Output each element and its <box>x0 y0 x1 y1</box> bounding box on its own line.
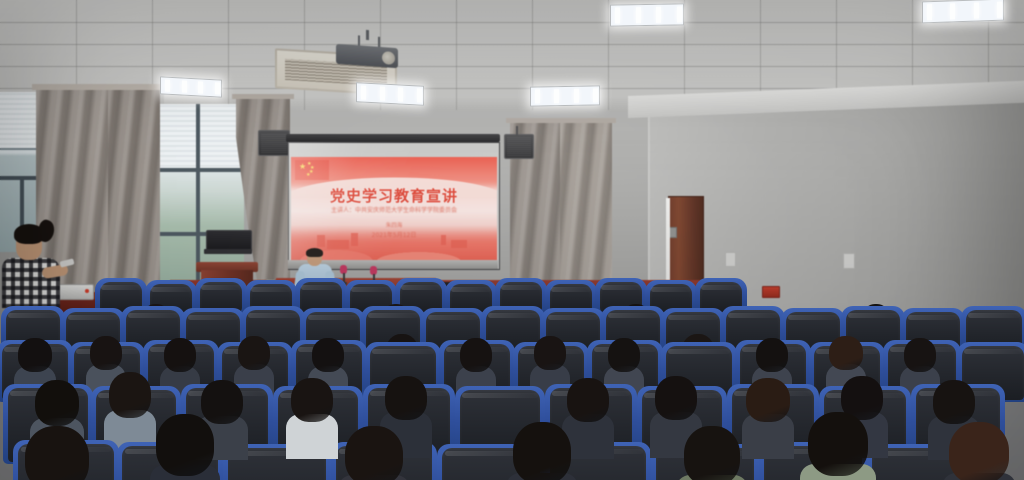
seat-top-edge <box>8 313 59 318</box>
audience-member-head <box>109 372 151 418</box>
speaker-mesh <box>507 137 531 156</box>
seat-top-edge <box>68 315 119 320</box>
light-tube <box>974 2 979 18</box>
slide-date: 2021年5月12日 <box>291 230 497 239</box>
speaker-mesh <box>261 133 287 153</box>
light-tube <box>165 80 170 92</box>
light-tube <box>417 88 422 102</box>
curtain-panel <box>108 88 160 308</box>
audience-member-head <box>156 414 214 476</box>
audience-member <box>800 412 876 480</box>
seat-top-edge <box>848 313 899 318</box>
projector-lens-icon <box>382 51 395 65</box>
audience-member <box>506 422 578 480</box>
slide-title: 党史学习教育宣讲 <box>291 185 497 206</box>
audience-member-head <box>655 376 697 420</box>
ceiling-light-panel-icon <box>922 0 1004 23</box>
seat-top-edge <box>968 313 1021 318</box>
seat-top-edge <box>251 287 290 292</box>
seat-top-edge <box>368 313 419 318</box>
ceiling-light-panel-icon <box>160 76 222 97</box>
seat-top-edge <box>548 315 599 320</box>
light-tube <box>398 87 403 101</box>
light-tube <box>615 7 620 23</box>
audience-member <box>676 426 748 480</box>
light-tube <box>215 82 220 94</box>
audience-member <box>942 422 1016 480</box>
light-tube <box>656 7 661 23</box>
wall-outlet-icon[interactable] <box>843 253 855 269</box>
seat-top-edge <box>351 287 390 292</box>
seat-top-edge <box>301 285 340 290</box>
ceiling-light-panel-icon <box>530 85 600 106</box>
seat-top-edge <box>201 285 240 290</box>
audience-member-head <box>312 338 344 372</box>
seat-top-edge <box>451 287 490 292</box>
seat-top-edge <box>151 287 190 292</box>
light-tube <box>677 6 682 22</box>
seat-top-edge <box>788 315 839 320</box>
presenter-hair <box>306 248 323 257</box>
audience-member <box>338 426 410 480</box>
seat-top-edge <box>501 285 540 290</box>
screen-roller-case <box>286 134 500 142</box>
audience-member-head <box>90 336 122 370</box>
light-tube <box>361 85 366 99</box>
audience-member-head <box>534 336 566 370</box>
audience-member-head <box>829 336 863 370</box>
light-tube <box>593 88 598 102</box>
audience-member-head <box>164 338 196 372</box>
wall-speaker-right-icon <box>504 134 534 159</box>
audience-member-head <box>808 412 868 476</box>
audience-member-head <box>567 378 609 422</box>
projector-icon <box>336 34 398 68</box>
slide-speaker-name: 朱四海 <box>291 221 497 229</box>
light-tube <box>927 4 932 20</box>
audience-member-head <box>345 426 403 480</box>
audience-member-head <box>949 422 1009 480</box>
audience-area <box>0 276 1024 480</box>
audience-member <box>742 378 794 460</box>
seat-top-edge <box>308 315 359 320</box>
seat-top-edge <box>668 349 730 354</box>
seat-top-edge <box>248 313 299 318</box>
light-tube <box>997 2 1002 18</box>
seat-top-edge <box>428 315 479 320</box>
ceiling-light-panel-icon <box>356 82 424 106</box>
seat-top-edge <box>372 349 434 354</box>
seat-top-edge <box>668 315 719 320</box>
curtain-rod <box>232 94 294 99</box>
seat-top-edge <box>462 393 537 398</box>
light-tube <box>182 81 187 93</box>
ceiling-tile-line <box>0 22 1024 23</box>
slide-subtitle: 主讲人：中共安庆师范大学生命科学学院委员会 <box>291 205 497 214</box>
light-tube <box>554 89 559 103</box>
ceiling-tile-line <box>0 44 1024 45</box>
laptop-icon[interactable] <box>206 230 250 254</box>
ceiling-light-panel-icon <box>610 3 684 26</box>
audience-member-head <box>513 422 571 480</box>
audience-member-head <box>608 338 640 372</box>
light-tube <box>950 3 955 19</box>
audience-member <box>150 414 220 480</box>
audience-member-head <box>933 380 975 424</box>
audience-member-head <box>18 338 52 372</box>
audience-member-head <box>291 378 333 422</box>
ceiling-tile-line <box>0 66 1024 67</box>
seat-top-edge <box>488 313 539 318</box>
audience-member-head <box>756 338 788 372</box>
light-tube <box>535 89 540 103</box>
china-flag-icon: ★ ★ ★ ★ ★ <box>295 160 329 180</box>
audience-member-head <box>746 378 790 422</box>
audience-member <box>18 426 96 480</box>
curtain-rod <box>506 118 616 123</box>
light-tube <box>574 89 579 103</box>
audience-member-head <box>385 376 427 420</box>
seat-top-edge <box>964 349 1022 354</box>
audience-member-head <box>904 338 936 372</box>
seat-top-edge <box>128 313 179 318</box>
curtain-panel <box>560 120 612 298</box>
laptop-base <box>204 249 252 254</box>
slide-building-silhouette <box>327 240 349 249</box>
seat-top-edge <box>401 285 440 290</box>
wall-switch-icon[interactable] <box>725 252 736 267</box>
seat-top-edge <box>908 315 959 320</box>
seat-top-edge <box>651 287 690 292</box>
lecture-hall-photo: ★ ★ ★ ★ ★ 党史学习教育宣讲 主讲人：中共安庆师范大学生命科学学院委员会… <box>0 0 1024 480</box>
presentation-slide: ★ ★ ★ ★ ★ 党史学习教育宣讲 主讲人：中共安庆师范大学生命科学学院委员会… <box>291 157 497 261</box>
audience-member-head <box>684 426 740 480</box>
audience-member-head <box>25 426 89 480</box>
seat-top-edge <box>608 313 659 318</box>
light-tube <box>636 7 641 23</box>
audience-member-head <box>35 380 79 426</box>
curtain-rod <box>32 84 164 90</box>
light-tube <box>198 81 203 93</box>
seat-top-edge <box>188 315 239 320</box>
seat-top-edge <box>701 285 740 290</box>
slide-building-silhouette <box>451 240 467 248</box>
speaker-cable <box>516 126 518 136</box>
light-tube <box>380 86 385 100</box>
audience-member-head <box>460 338 492 372</box>
audience-member <box>286 378 338 460</box>
seat-top-edge <box>728 313 779 318</box>
seat-top-edge <box>551 287 590 292</box>
seat-top-edge <box>101 285 140 290</box>
seat-top-edge <box>601 285 640 290</box>
audience-member-head <box>238 336 270 370</box>
